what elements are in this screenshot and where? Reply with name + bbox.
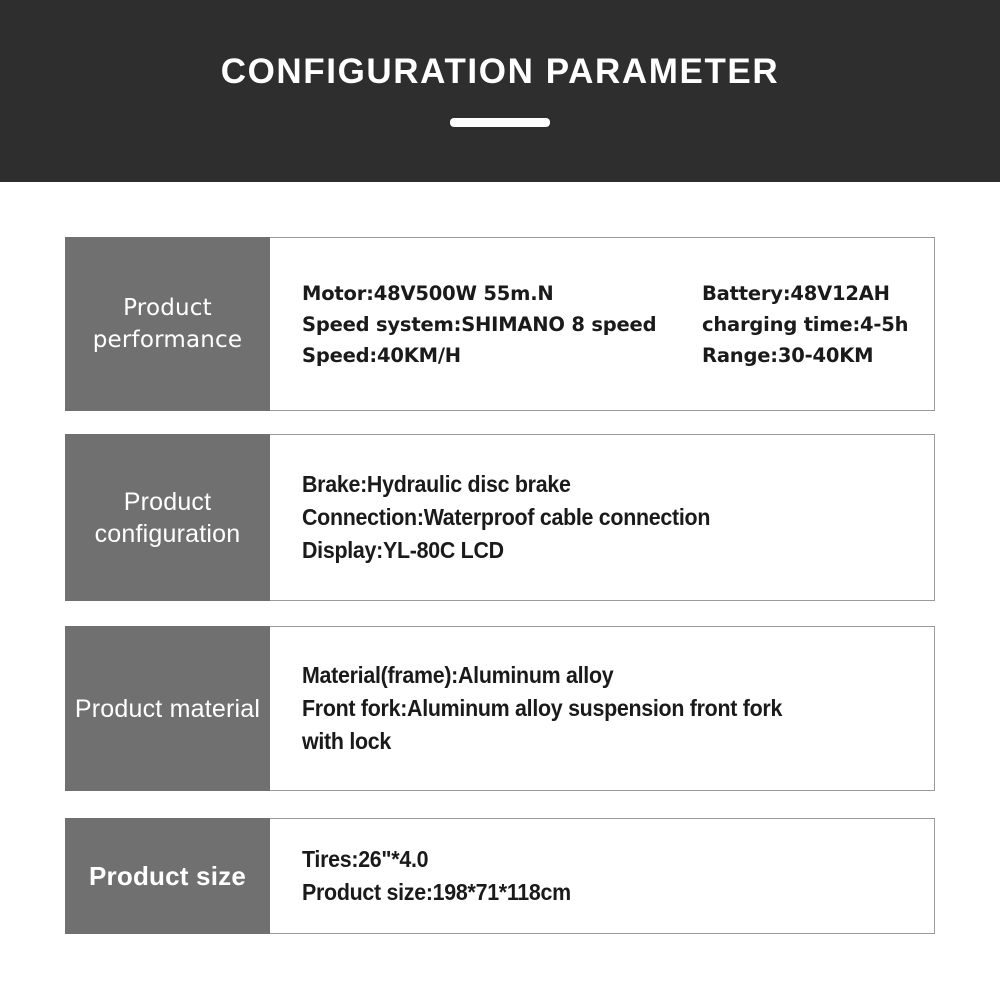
table-row: Product performance Motor:48V500W 55m.N … <box>65 237 935 411</box>
table-row: Product material Material(frame):Aluminu… <box>65 626 935 791</box>
spec-line: Product size:198*71*118cm <box>302 876 571 909</box>
spec-columns: Material(frame):Aluminum alloy Front for… <box>302 659 934 758</box>
row-label-product-performance: Product performance <box>65 237 270 411</box>
spec-line: Motor:48V500W 55m.N <box>302 278 702 309</box>
spec-column-left: Tires:26"*4.0 Product size:198*71*118cm <box>302 843 591 909</box>
spec-line: Speed:40KM/H <box>302 340 702 371</box>
spec-column-left: Motor:48V500W 55m.N Speed system:SHIMANO… <box>302 278 702 371</box>
spec-line: Battery:48V12AH <box>702 278 942 309</box>
row-label-product-size: Product size <box>65 818 270 934</box>
spec-line: Connection:Waterproof cable connection <box>302 501 710 534</box>
table-row: Product configuration Brake:Hydraulic di… <box>65 434 935 601</box>
spec-column-left: Brake:Hydraulic disc brake Connection:Wa… <box>302 468 741 567</box>
title-underline-divider <box>450 118 550 127</box>
row-body: Brake:Hydraulic disc brake Connection:Wa… <box>270 435 934 600</box>
spec-column-right: Battery:48V12AH charging time:4-5h Range… <box>702 278 942 371</box>
row-body: Motor:48V500W 55m.N Speed system:SHIMANO… <box>270 238 942 410</box>
spec-line: Display:YL-80C LCD <box>302 534 710 567</box>
row-label-product-configuration: Product configuration <box>65 434 270 601</box>
page-header: CONFIGURATION PARAMETER <box>0 0 1000 182</box>
row-body: Material(frame):Aluminum alloy Front for… <box>270 627 934 790</box>
spec-columns: Motor:48V500W 55m.N Speed system:SHIMANO… <box>302 278 942 371</box>
spec-line: Speed system:SHIMANO 8 speed <box>302 309 702 340</box>
page-title: CONFIGURATION PARAMETER <box>0 50 1000 94</box>
configuration-parameter-page: CONFIGURATION PARAMETER Product performa… <box>0 0 1000 1000</box>
spec-line: Brake:Hydraulic disc brake <box>302 468 710 501</box>
spec-column-left: Material(frame):Aluminum alloy Front for… <box>302 659 818 758</box>
row-body: Tires:26"*4.0 Product size:198*71*118cm <box>270 819 934 933</box>
table-row: Product size Tires:26"*4.0 Product size:… <box>65 818 935 934</box>
spec-line: Range:30-40KM <box>702 340 942 371</box>
spec-line: with lock <box>302 725 782 758</box>
spec-line: Material(frame):Aluminum alloy <box>302 659 782 692</box>
spec-line: Front fork:Aluminum alloy suspension fro… <box>302 692 782 725</box>
spec-line: charging time:4-5h <box>702 309 942 340</box>
row-label-product-material: Product material <box>65 626 270 791</box>
spec-columns: Tires:26"*4.0 Product size:198*71*118cm <box>302 843 934 909</box>
spec-columns: Brake:Hydraulic disc brake Connection:Wa… <box>302 468 934 567</box>
spec-line: Tires:26"*4.0 <box>302 843 571 876</box>
